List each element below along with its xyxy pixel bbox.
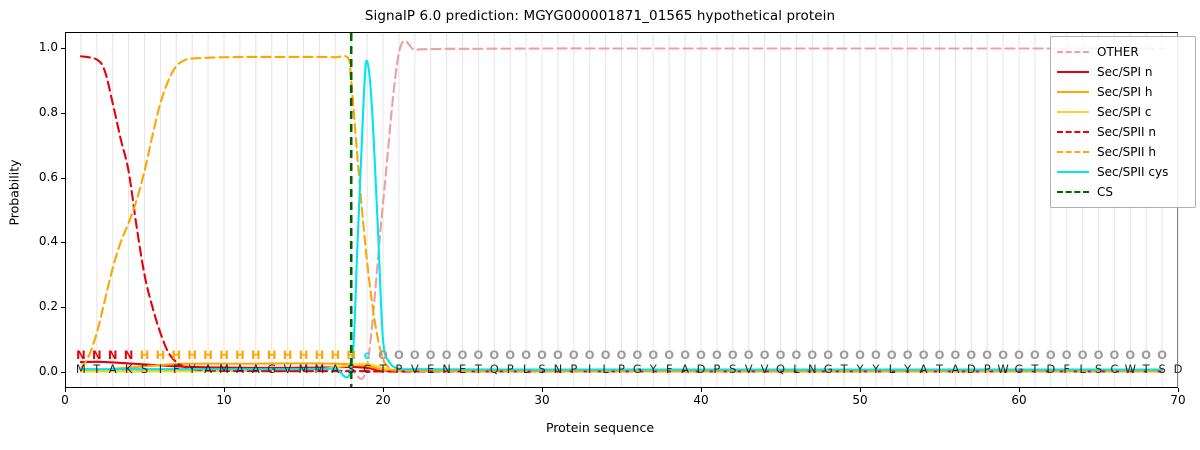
legend-item[interactable]: Sec/SPII n xyxy=(1057,122,1189,142)
legend-item[interactable]: Sec/SPI n xyxy=(1057,62,1189,82)
legend-label: Sec/SPII cys xyxy=(1097,165,1168,179)
sequence-residue: D xyxy=(1168,362,1188,376)
legend-item[interactable]: Sec/SPI c xyxy=(1057,102,1189,122)
legend-item[interactable]: Sec/SPI h xyxy=(1057,82,1189,102)
legend-item[interactable]: CS xyxy=(1057,182,1189,202)
signalp-prediction-figure: SignalP 6.0 prediction: MGYG000001871_01… xyxy=(0,0,1200,450)
legend-label: Sec/SPII n xyxy=(1097,125,1156,139)
legend-label: Sec/SPI c xyxy=(1097,105,1151,119)
legend-color-swatch xyxy=(1057,71,1089,73)
legend-item[interactable]: Sec/SPII cys xyxy=(1057,162,1189,182)
legend-color-swatch xyxy=(1057,151,1089,153)
plot-curves xyxy=(0,0,1200,450)
legend-item[interactable]: OTHER xyxy=(1057,42,1189,62)
gridlines xyxy=(81,33,1178,387)
legend-color-swatch xyxy=(1057,111,1089,113)
legend-label: OTHER xyxy=(1097,45,1139,59)
legend-color-swatch xyxy=(1057,171,1089,173)
legend-color-swatch xyxy=(1057,191,1089,193)
legend-label: CS xyxy=(1097,185,1113,199)
legend-color-swatch xyxy=(1057,51,1089,53)
legend: OTHERSec/SPI nSec/SPI hSec/SPI cSec/SPII… xyxy=(1050,36,1196,208)
legend-color-swatch xyxy=(1057,91,1089,93)
legend-color-swatch xyxy=(1057,131,1089,133)
legend-label: Sec/SPI h xyxy=(1097,85,1152,99)
legend-item[interactable]: Sec/SPII h xyxy=(1057,142,1189,162)
legend-label: Sec/SPII h xyxy=(1097,145,1156,159)
region-annotation-letter: O xyxy=(1152,348,1172,362)
legend-label: Sec/SPI n xyxy=(1097,65,1152,79)
